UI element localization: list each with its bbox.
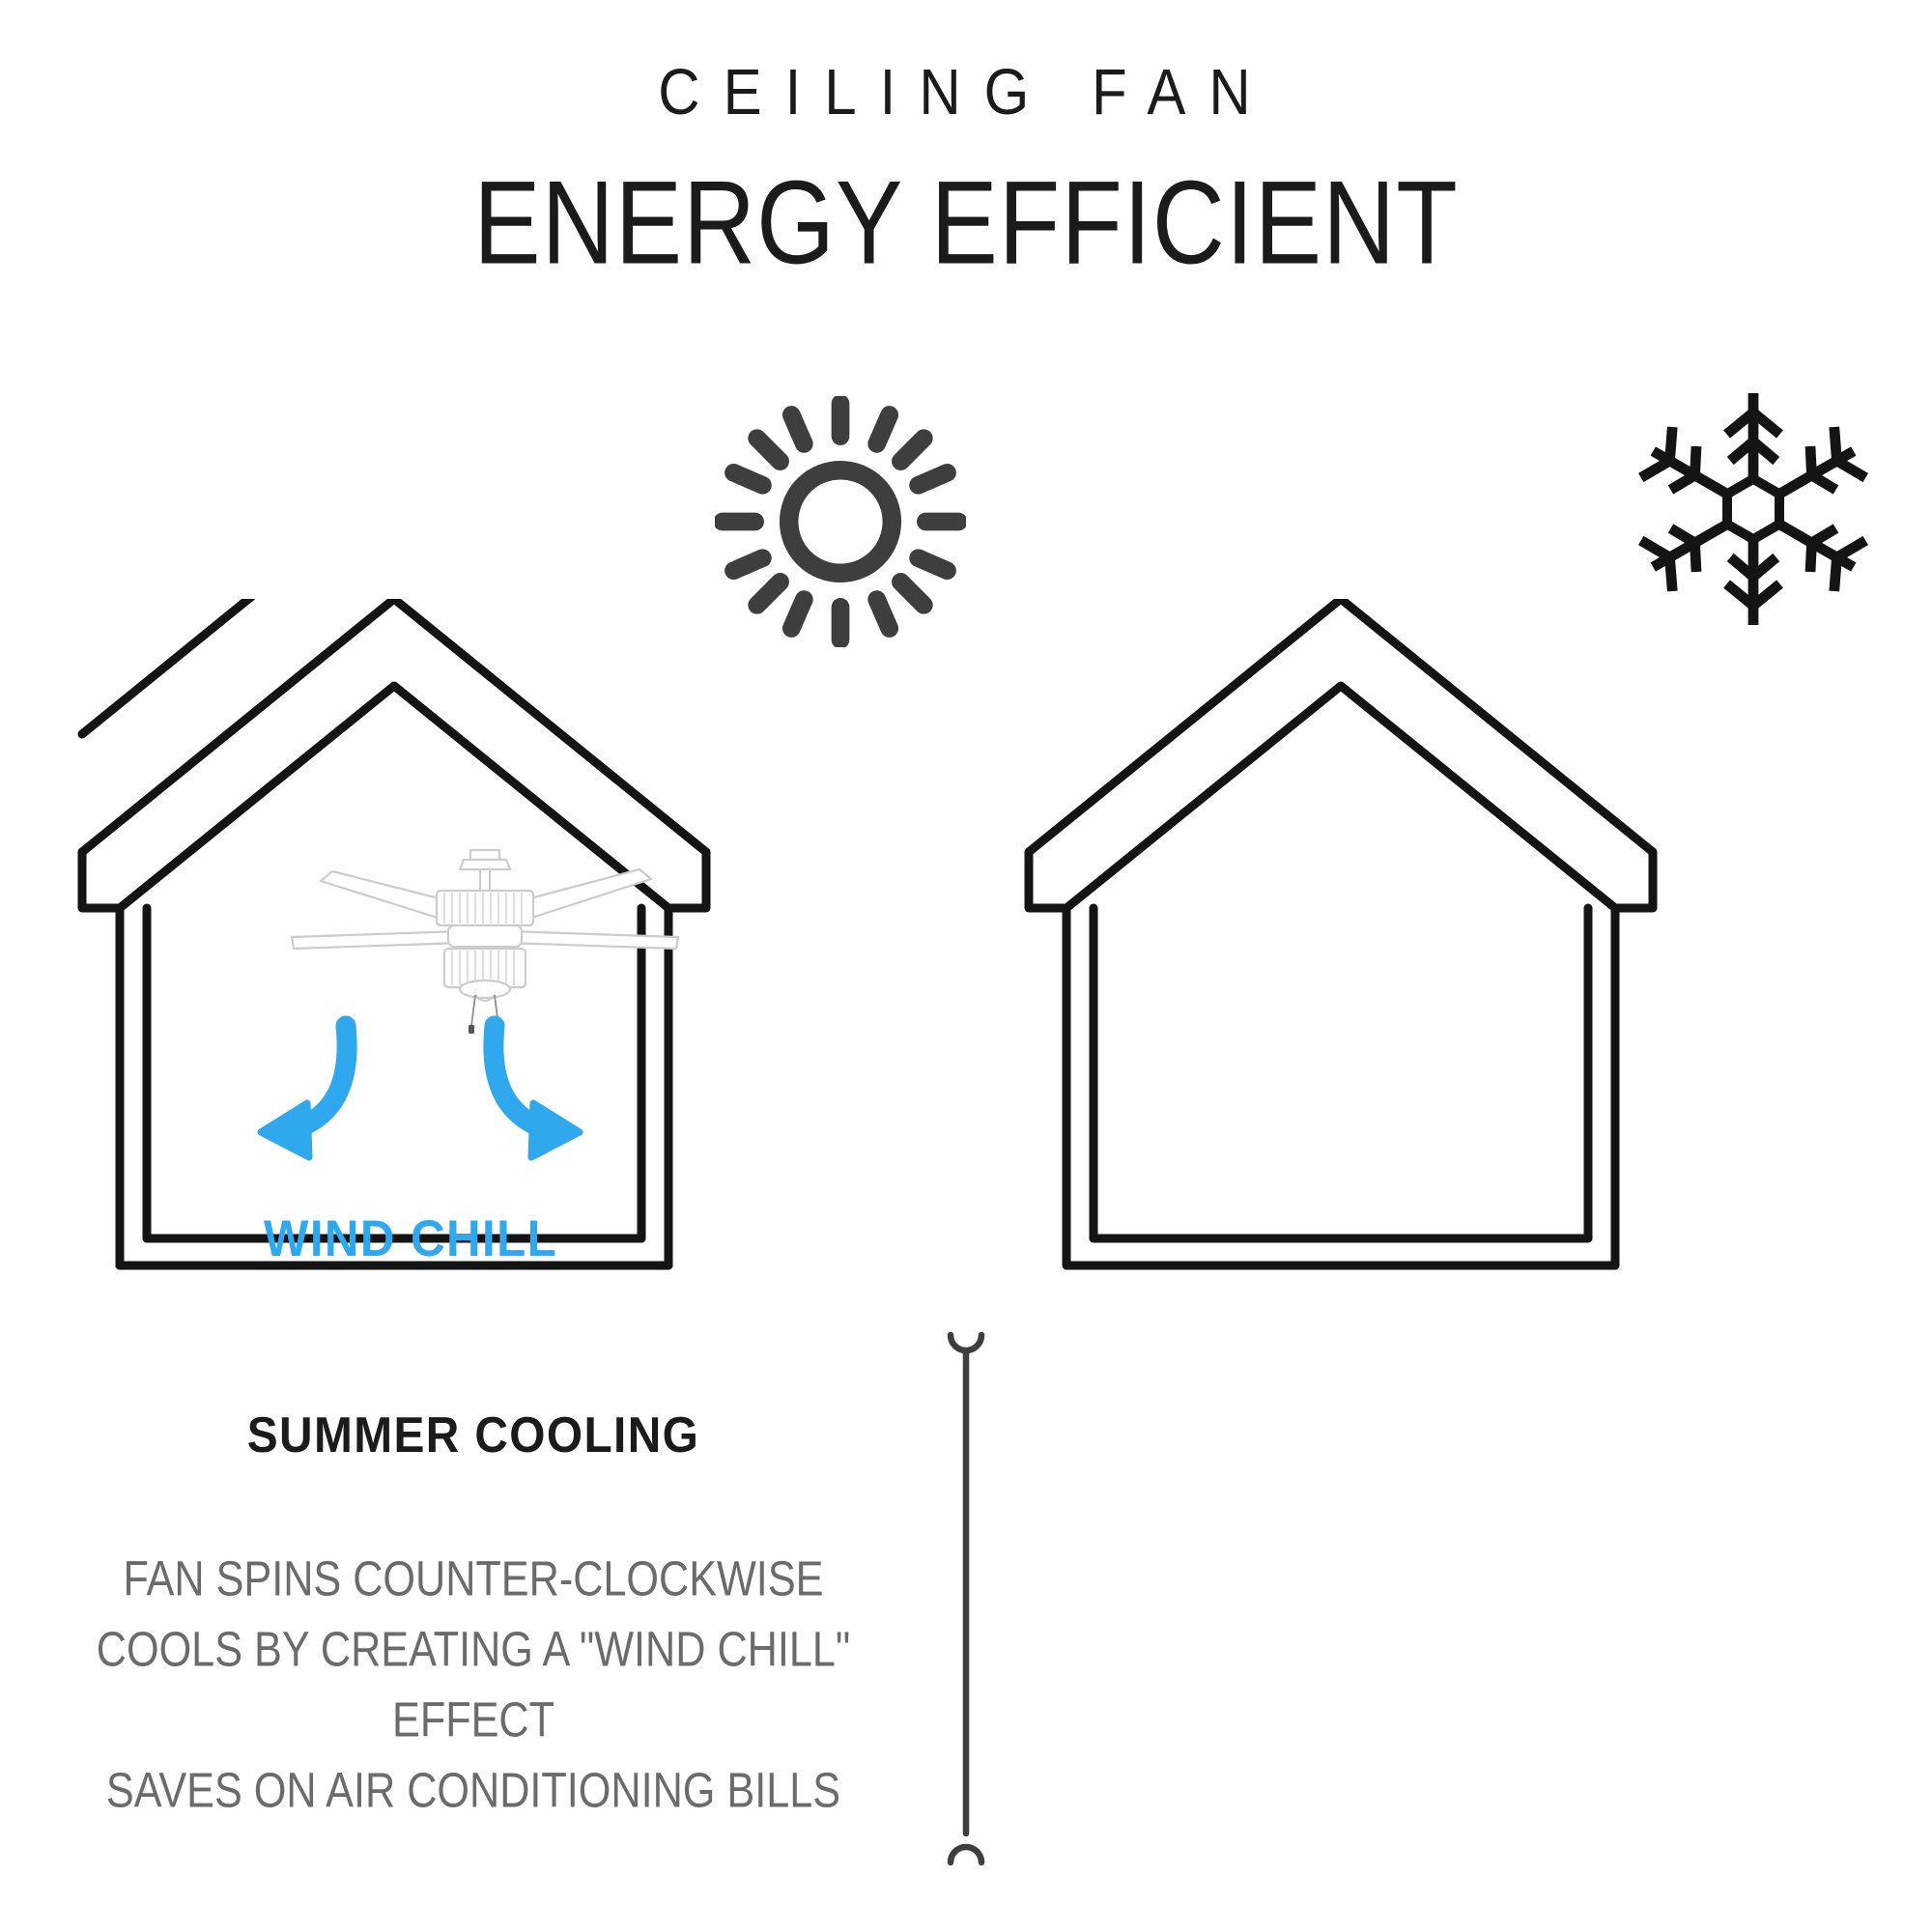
caption-summer: SUMMER COOLING FAN SPINS COUNTER-CLOCKWI… bbox=[39, 1406, 908, 1791]
caption-heading-summer: SUMMER COOLING bbox=[73, 1406, 873, 1464]
wind-chill-label: WIND CHILL bbox=[209, 1209, 613, 1270]
house-outline-winter bbox=[947, 599, 1913, 1275]
infographic-canvas: CEILING FAN ENERGY EFFICIENT bbox=[0, 0, 1932, 1932]
caption-body-summer: FAN SPINS COUNTER-CLOCKWISE COOLS BY CRE… bbox=[56, 1544, 891, 1825]
caption-line: COOLS BY CREATING A "WIND CHILL" bbox=[56, 1614, 891, 1685]
caption-line: FAN SPINS COUNTER-CLOCKWISE bbox=[56, 1544, 891, 1614]
caption-line: SAVES ON AIR CONDITIONING BILLS bbox=[56, 1755, 891, 1826]
panel-winter: RECIRCULATES HEAT FORCING AIR DOWN WINTE… bbox=[966, 0, 1932, 1932]
panel-summer: WIND CHILL SUMMER COOLING FAN SPINS COUN… bbox=[0, 0, 966, 1932]
center-divider bbox=[927, 1323, 1005, 1874]
caption-line: EFFECT bbox=[56, 1685, 891, 1755]
airflow-arrow-right-summer[interactable] bbox=[425, 1014, 618, 1188]
airflow-arrow-left-summer[interactable] bbox=[222, 1014, 415, 1188]
